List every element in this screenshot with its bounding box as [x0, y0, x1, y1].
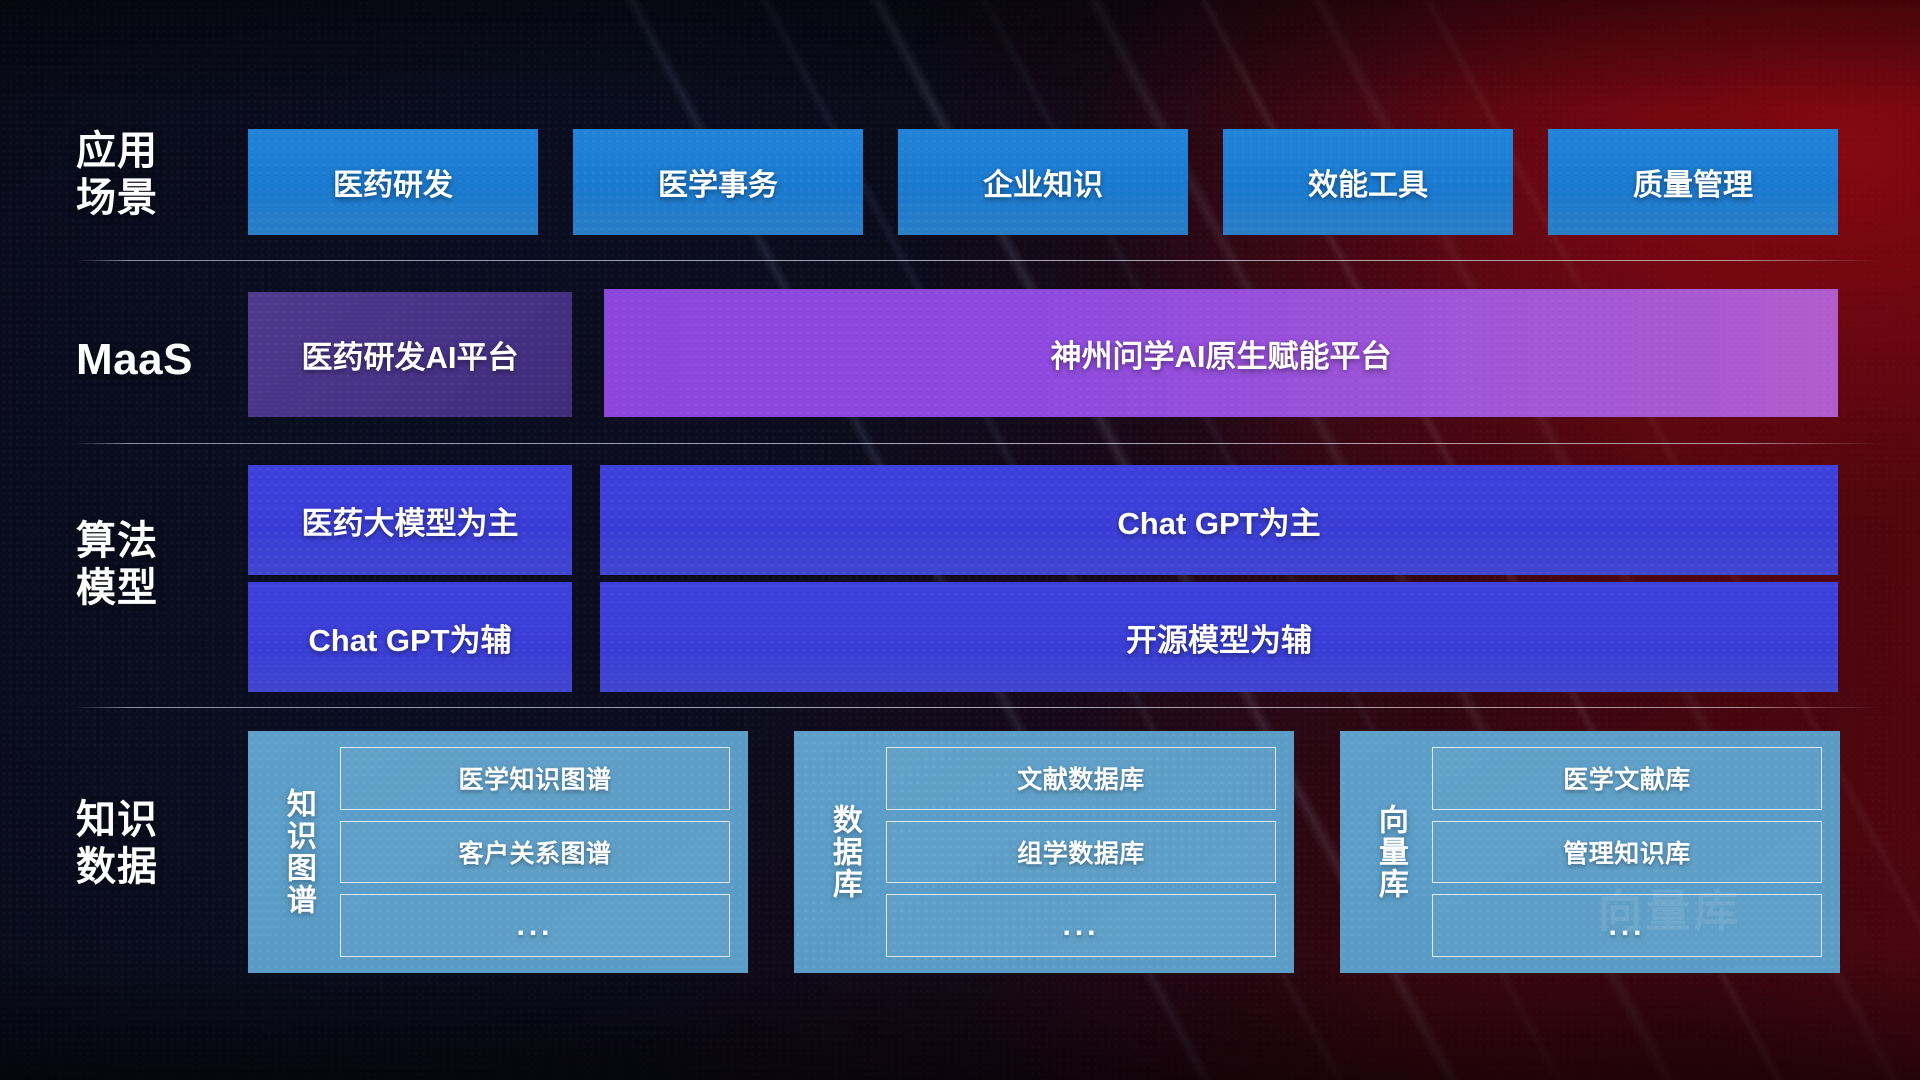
maas-card-shenzhou-wenxue-platform[interactable]: 神州问学AI原生赋能平台: [604, 289, 1838, 417]
algo-card-chatgpt-primary[interactable]: Chat GPT为主: [600, 465, 1838, 575]
scenario-card-quality-management-label: 质量管理: [1633, 160, 1753, 204]
divider-maas-algorithm: [75, 443, 1880, 444]
algo-card-chatgpt-secondary[interactable]: Chat GPT为辅: [248, 582, 572, 692]
knowledge-panel-database[interactable]: 数据库 文献数据库 组学数据库 ...: [794, 731, 1294, 973]
knowledge-item-customer-relation-graph[interactable]: 客户关系图谱: [340, 821, 730, 884]
maas-card-drug-rd-ai-platform-label: 医药研发AI平台: [302, 332, 519, 377]
scenario-card-medical-affairs-label: 医学事务: [658, 160, 778, 204]
knowledge-panel-vector-database-items: 医学文献库 管理知识库 ...: [1426, 747, 1822, 957]
knowledge-panel-vector-database[interactable]: 向量库 向量库 医学文献库 管理知识库 ...: [1340, 731, 1840, 973]
scenario-card-quality-management[interactable]: 质量管理: [1548, 129, 1838, 235]
divider-scenarios-maas: [75, 260, 1880, 261]
knowledge-panel-database-items: 文献数据库 组学数据库 ...: [880, 747, 1276, 957]
architecture-diagram: 应用场景 医药研发 医学事务 企业知识 效能工具 质量管理 MaaS 医药研发A…: [0, 0, 1920, 1080]
scenario-card-medical-affairs[interactable]: 医学事务: [573, 129, 863, 235]
knowledge-item-more-ellipsis[interactable]: ...: [340, 894, 730, 957]
knowledge-panel-knowledge-graph[interactable]: 知识图谱 医学知识图谱 客户关系图谱 ...: [248, 731, 748, 973]
scenario-card-efficiency-tools[interactable]: 效能工具: [1223, 129, 1513, 235]
algo-card-pharma-llm-primary-label: 医药大模型为主: [302, 498, 519, 543]
maas-card-shenzhou-wenxue-platform-label: 神州问学AI原生赋能平台: [1051, 331, 1392, 376]
scenario-card-drug-rd[interactable]: 医药研发: [248, 129, 538, 235]
knowledge-panel-knowledge-graph-items: 医学知识图谱 客户关系图谱 ...: [334, 747, 730, 957]
row-label-algorithm-model: 算法模型: [76, 518, 244, 612]
database-item-omics-database[interactable]: 组学数据库: [886, 821, 1276, 884]
scenario-card-drug-rd-label: 医药研发: [333, 160, 453, 204]
vector-item-medical-literature-library[interactable]: 医学文献库: [1432, 747, 1822, 810]
algo-card-opensource-secondary[interactable]: 开源模型为辅: [600, 582, 1838, 692]
maas-card-drug-rd-ai-platform[interactable]: 医药研发AI平台: [248, 292, 572, 417]
algo-card-chatgpt-primary-label: Chat GPT为主: [1117, 498, 1320, 543]
scenario-card-enterprise-knowledge[interactable]: 企业知识: [898, 129, 1188, 235]
vector-item-management-knowledge-library[interactable]: 管理知识库: [1432, 821, 1822, 884]
algo-card-opensource-secondary-label: 开源模型为辅: [1126, 615, 1312, 660]
scenario-card-enterprise-knowledge-label: 企业知识: [983, 160, 1103, 204]
knowledge-item-medical-knowledge-graph[interactable]: 医学知识图谱: [340, 747, 730, 810]
vector-item-more-ellipsis[interactable]: ...: [1432, 894, 1822, 957]
knowledge-panel-database-title: 数据库: [808, 747, 880, 957]
row-label-application-scenarios: 应用场景: [76, 128, 244, 222]
row-label-maas: MaaS: [76, 334, 244, 386]
algo-card-pharma-llm-primary[interactable]: 医药大模型为主: [248, 465, 572, 575]
knowledge-panel-vector-database-title: 向量库: [1354, 747, 1426, 957]
scenario-card-efficiency-tools-label: 效能工具: [1308, 160, 1428, 204]
divider-algorithm-knowledge: [75, 707, 1880, 708]
knowledge-panel-knowledge-graph-title: 知识图谱: [262, 747, 334, 957]
database-item-literature-database[interactable]: 文献数据库: [886, 747, 1276, 810]
row-label-knowledge-data: 知识数据: [76, 797, 244, 891]
algo-card-chatgpt-secondary-label: Chat GPT为辅: [308, 615, 511, 660]
database-item-more-ellipsis[interactable]: ...: [886, 894, 1276, 957]
